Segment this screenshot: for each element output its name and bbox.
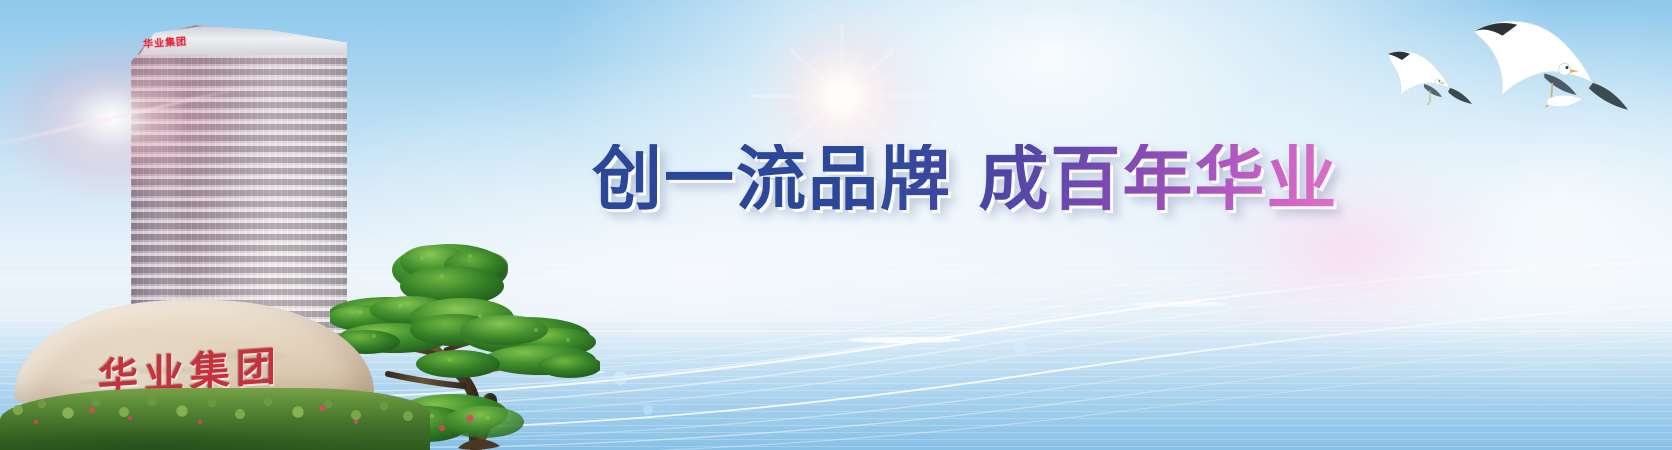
seagull-icon — [1474, 21, 1628, 110]
building-sign-label: 华业集团 — [143, 32, 188, 50]
seagull-icon — [1388, 51, 1472, 105]
company-hero-banner: 华业集团 — [0, 0, 1672, 450]
slogan-text: 创一流品牌 成百年华业 — [592, 144, 1338, 214]
hedge-row — [0, 388, 430, 450]
slogan-block: 创一流品牌 成百年华业 — [592, 131, 1362, 227]
hedge-flowers — [0, 388, 430, 450]
seagull-group — [1370, 8, 1670, 128]
